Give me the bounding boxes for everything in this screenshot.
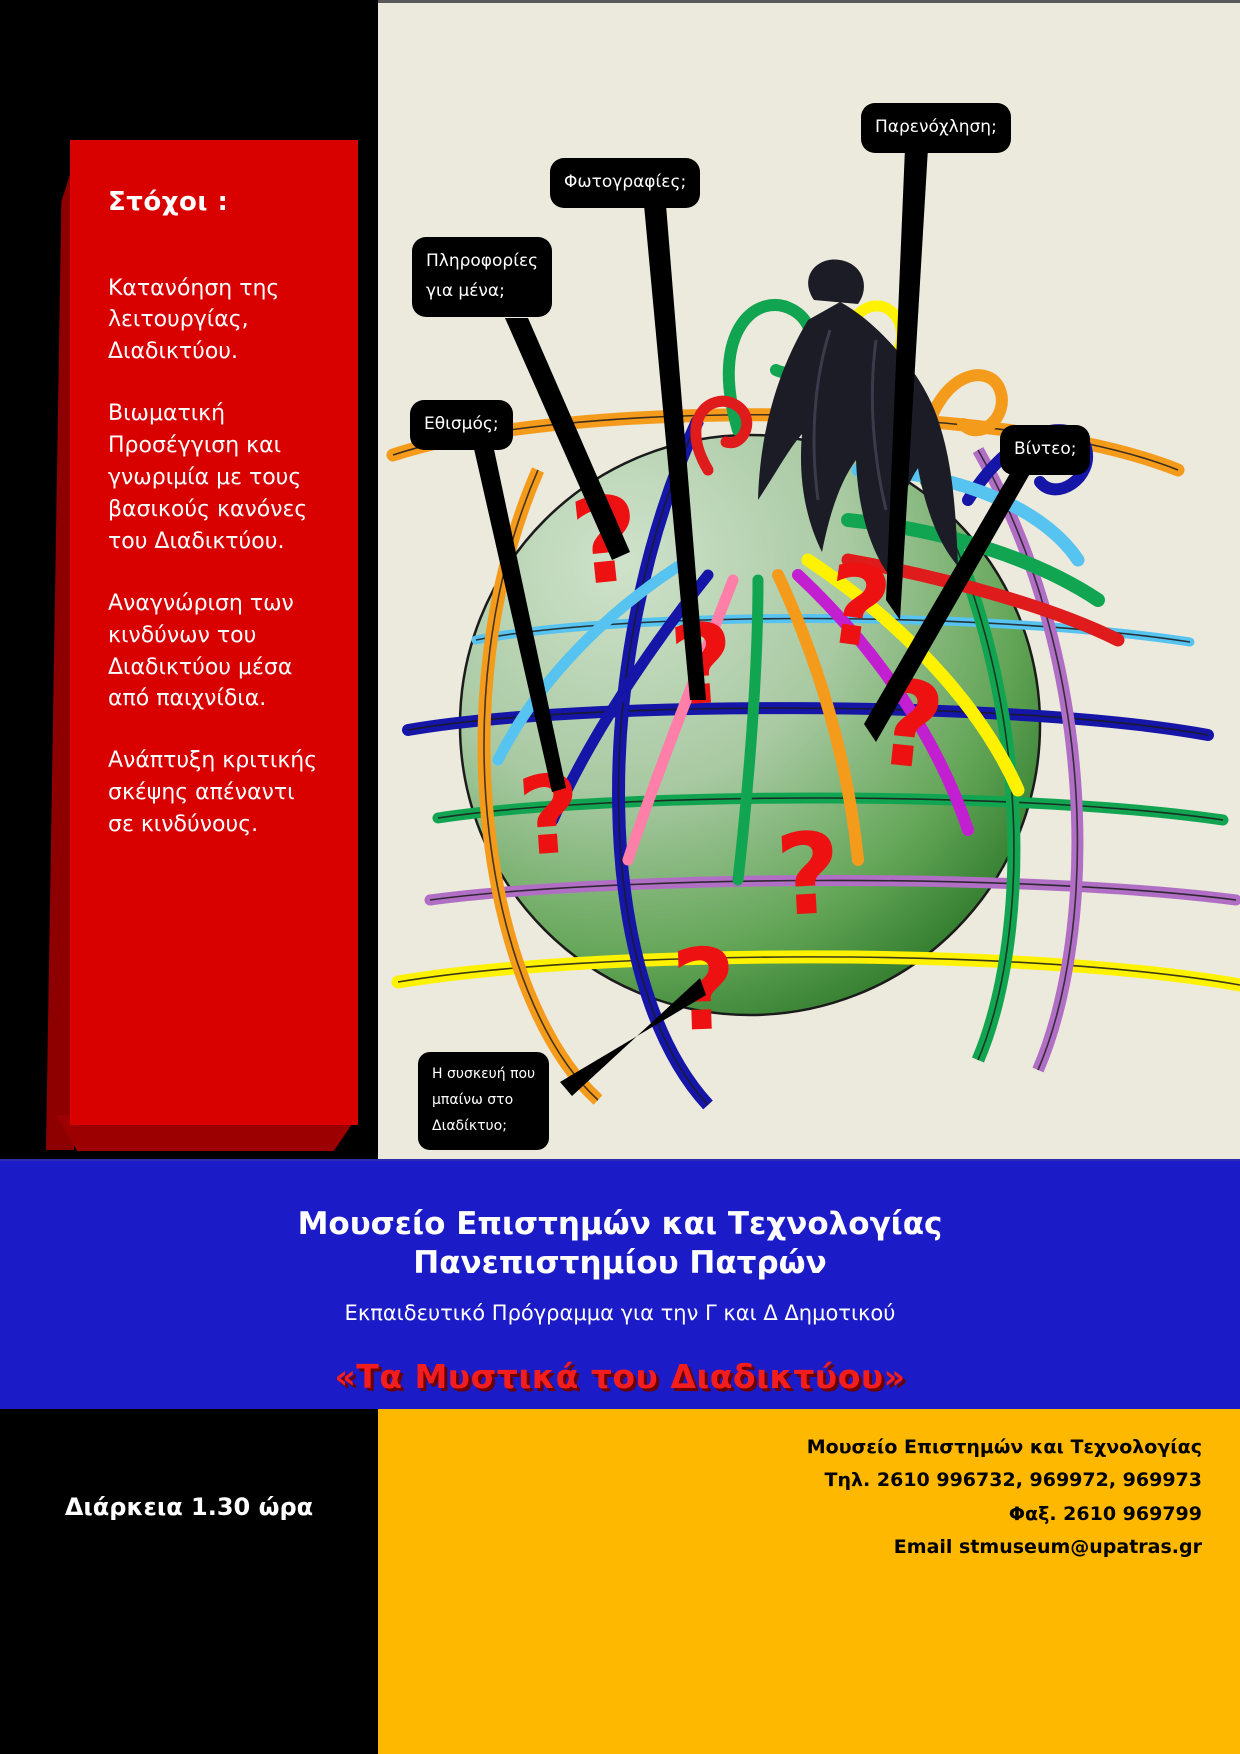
callout-video[interactable]: Βίντεο;: [1000, 425, 1090, 475]
callout-addiction[interactable]: Εθισμός;: [410, 400, 513, 450]
duration-label: Διάρκεια 1.30 ώρα: [0, 1493, 378, 1521]
contact-yellow-panel: Μουσείο Επιστημών και Τεχνολογίας Τηλ. 2…: [378, 1409, 1240, 1754]
organisation-line-2: Πανεπιστημίου Πατρών: [0, 1244, 1240, 1283]
contact-block: Μουσείο Επιστημών και Τεχνολογίας Τηλ. 2…: [807, 1431, 1202, 1564]
organisation-line-1: Μουσείο Επιστημών και Τεχνολογίας: [0, 1161, 1240, 1244]
footer-blue-band: Μουσείο Επιστημών και Τεχνολογίας Πανεπι…: [0, 1159, 1240, 1411]
bottom-bar: Μουσείο Επιστημών και Τεχνολογίας Τηλ. 2…: [0, 1409, 1240, 1754]
callout-info-about-me[interactable]: Πληροφορίες για μένα;: [412, 237, 552, 317]
contact-line-2: Τηλ. 2610 996732, 969972, 969973: [807, 1464, 1202, 1497]
contact-line-4: Email stmuseum@upatras.gr: [807, 1531, 1202, 1564]
callout-photos[interactable]: Φωτογραφίες;: [550, 158, 700, 208]
contact-line-1: Μουσείο Επιστημών και Τεχνολογίας: [807, 1431, 1202, 1464]
callout-device[interactable]: Η συσκευή που μπαίνω στο Διαδίκτυο;: [418, 1052, 549, 1150]
program-title: «Τα Μυστικά του Διαδικτύου»: [0, 1357, 1240, 1396]
callout-harassment[interactable]: Παρενόχληση;: [861, 103, 1011, 153]
program-line: Εκπαιδευτικό Πρόγραμμα για την Γ και Δ Δ…: [0, 1301, 1240, 1325]
poster-root: ? ? ? ? ? ? ? Παρενόχληση; Φωτογραφίες; …: [0, 0, 1240, 1754]
contact-line-3: Φαξ. 2610 969799: [807, 1498, 1202, 1531]
